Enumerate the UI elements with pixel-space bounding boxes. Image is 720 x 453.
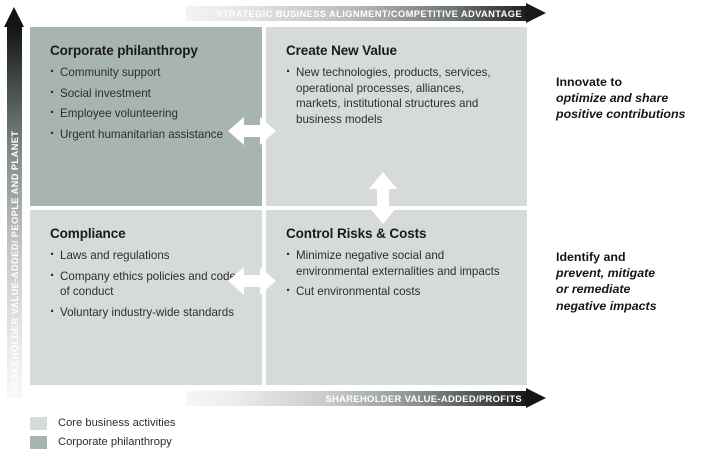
- legend-swatch: [30, 417, 47, 430]
- list-item: Social investment: [50, 86, 244, 102]
- quadrant-item-list: Laws and regulations Company ethics poli…: [50, 248, 244, 320]
- left-axis-arrow: STAKEHOLDER VALUE-ADDED/ PEOPLE AND PLAN…: [5, 8, 24, 398]
- note-line: optimize and share: [556, 90, 720, 106]
- bottom-axis-label: SHAREHOLDER VALUE-ADDED/PROFITS: [198, 391, 528, 406]
- list-item: Minimize negative social and environment…: [286, 248, 509, 279]
- legend-label: Corporate philanthropy: [58, 436, 172, 449]
- note-line: prevent, mitigate: [556, 265, 720, 281]
- legend-swatch: [30, 436, 47, 449]
- list-item: Urgent humanitarian assistance: [50, 127, 244, 143]
- note-line: or remediate: [556, 281, 720, 297]
- legend: Core business activities Corporate phila…: [30, 415, 290, 453]
- list-item: Laws and regulations: [50, 248, 244, 264]
- quadrant-control-risks-and-costs: Control Risks & Costs Minimize negative …: [266, 210, 527, 385]
- quadrant-title: Corporate philanthropy: [50, 43, 244, 58]
- list-item: Company ethics policies and codes of con…: [50, 269, 244, 300]
- quadrant-title: Control Risks & Costs: [286, 226, 509, 241]
- quadrant-title: Create New Value: [286, 43, 509, 58]
- double-headed-vertical-arrow-icon: [364, 172, 402, 224]
- quadrant-item-list: New technologies, products, services, op…: [286, 65, 509, 127]
- note-line: negative impacts: [556, 298, 720, 314]
- bottom-axis-arrow: SHAREHOLDER VALUE-ADDED/PROFITS: [186, 389, 546, 408]
- list-item: New technologies, products, services, op…: [286, 65, 509, 127]
- legend-label: Core business activities: [58, 417, 176, 430]
- list-item: Employee volunteering: [50, 106, 244, 122]
- top-axis-label: STRATEGIC BUSINESS ALIGNMENT/COMPETITIVE…: [198, 6, 528, 21]
- quadrant-title: Compliance: [50, 226, 244, 241]
- legend-item-core-business-activities: Core business activities: [30, 415, 290, 432]
- legend-item-corporate-philanthropy: Corporate philanthropy: [30, 434, 290, 451]
- double-headed-horizontal-arrow-icon: [228, 112, 276, 150]
- note-line: positive contributions: [556, 106, 720, 122]
- bottom-axis-arrowhead-icon: [526, 388, 546, 408]
- list-item: Voluntary industry-wide standards: [50, 305, 244, 321]
- note-heading: Identify and: [556, 249, 720, 265]
- quadrant-item-list: Minimize negative social and environment…: [286, 248, 509, 300]
- list-item: Cut environmental costs: [286, 284, 509, 300]
- strategy-matrix: Corporate philanthropy Community support…: [30, 27, 527, 385]
- double-headed-horizontal-arrow-icon: [228, 262, 276, 300]
- top-axis-arrow: STRATEGIC BUSINESS ALIGNMENT/COMPETITIVE…: [186, 4, 546, 23]
- top-axis-arrowhead-icon: [526, 3, 546, 23]
- note-heading: Innovate to: [556, 74, 720, 90]
- list-item: Community support: [50, 65, 244, 81]
- note-innovate: Innovate to optimize and share positive …: [556, 74, 720, 123]
- note-identify: Identify and prevent, mitigate or remedi…: [556, 249, 720, 314]
- quadrant-item-list: Community support Social investment Empl…: [50, 65, 244, 142]
- left-axis-label: STAKEHOLDER VALUE-ADDED/ PEOPLE AND PLAN…: [7, 24, 22, 398]
